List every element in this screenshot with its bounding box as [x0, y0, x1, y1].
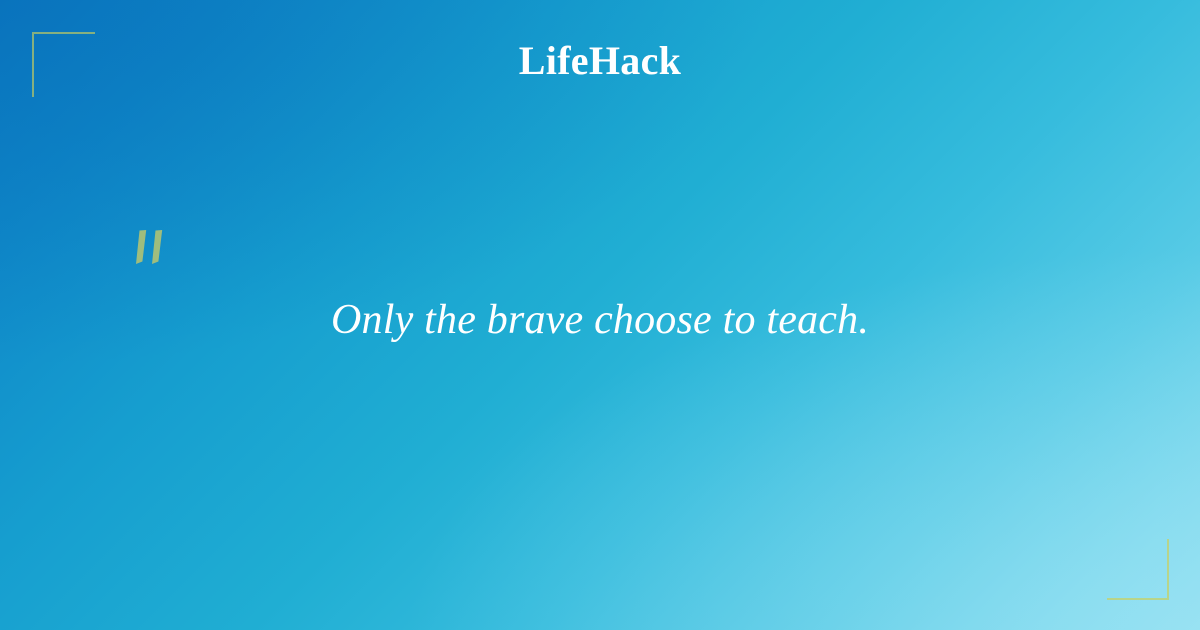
quote-mark-icon: [133, 228, 173, 270]
corner-bracket-bottom-right-icon: [1107, 539, 1169, 600]
quote-container: Only the brave choose to teach.: [0, 292, 1200, 348]
brand-name: LifeHack: [519, 38, 681, 84]
brand-logo: LifeHack: [0, 38, 1200, 84]
quote-text: Only the brave choose to teach.: [331, 292, 869, 348]
quote-card: LifeHack Only the brave choose to teach.: [0, 0, 1200, 630]
